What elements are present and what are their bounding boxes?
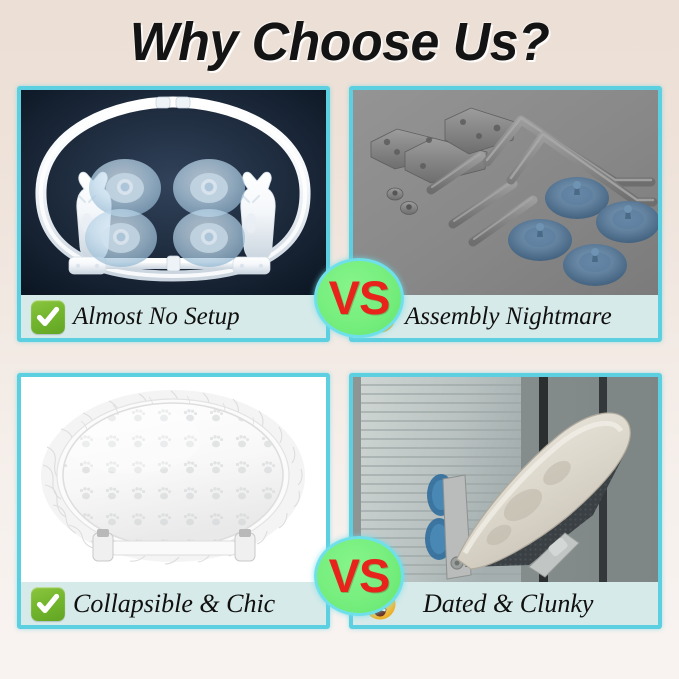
vs-badge-row-2: VS xyxy=(314,536,404,616)
product-photo-old-hammock xyxy=(353,377,658,582)
vs-badge-label: VS xyxy=(329,552,390,599)
green-check-icon xyxy=(31,300,65,334)
caption-text-con-dated: Dated & Clunky xyxy=(423,591,593,617)
page-title: Why Choose Us? xyxy=(0,6,679,78)
vs-badge-row-1: VS xyxy=(314,258,404,338)
product-photo-assembled-frame xyxy=(21,90,326,295)
vs-badge-label: VS xyxy=(329,274,390,321)
caption-text-pro-setup: Almost No Setup xyxy=(73,304,240,329)
card-pro-collapsible: Collapsible & Chic xyxy=(17,373,330,629)
caption-bar-pro-setup: Almost No Setup xyxy=(21,295,326,338)
caption-text-con-assembly: Assembly Nightmare xyxy=(405,304,612,329)
caption-text-pro-collapsible: Collapsible & Chic xyxy=(73,591,275,617)
product-photo-disassembled-parts xyxy=(353,90,658,295)
page-title-text: Why Choose Us? xyxy=(130,11,550,73)
product-photo-ruffled-bed xyxy=(21,377,326,582)
green-check-icon xyxy=(31,587,65,621)
comparison-grid: Almost No Setup xyxy=(17,86,662,632)
card-pro-setup: Almost No Setup xyxy=(17,86,330,342)
comparison-poster: Why Choose Us? xyxy=(0,0,679,679)
caption-bar-pro-collapsible: Collapsible & Chic xyxy=(21,582,326,625)
